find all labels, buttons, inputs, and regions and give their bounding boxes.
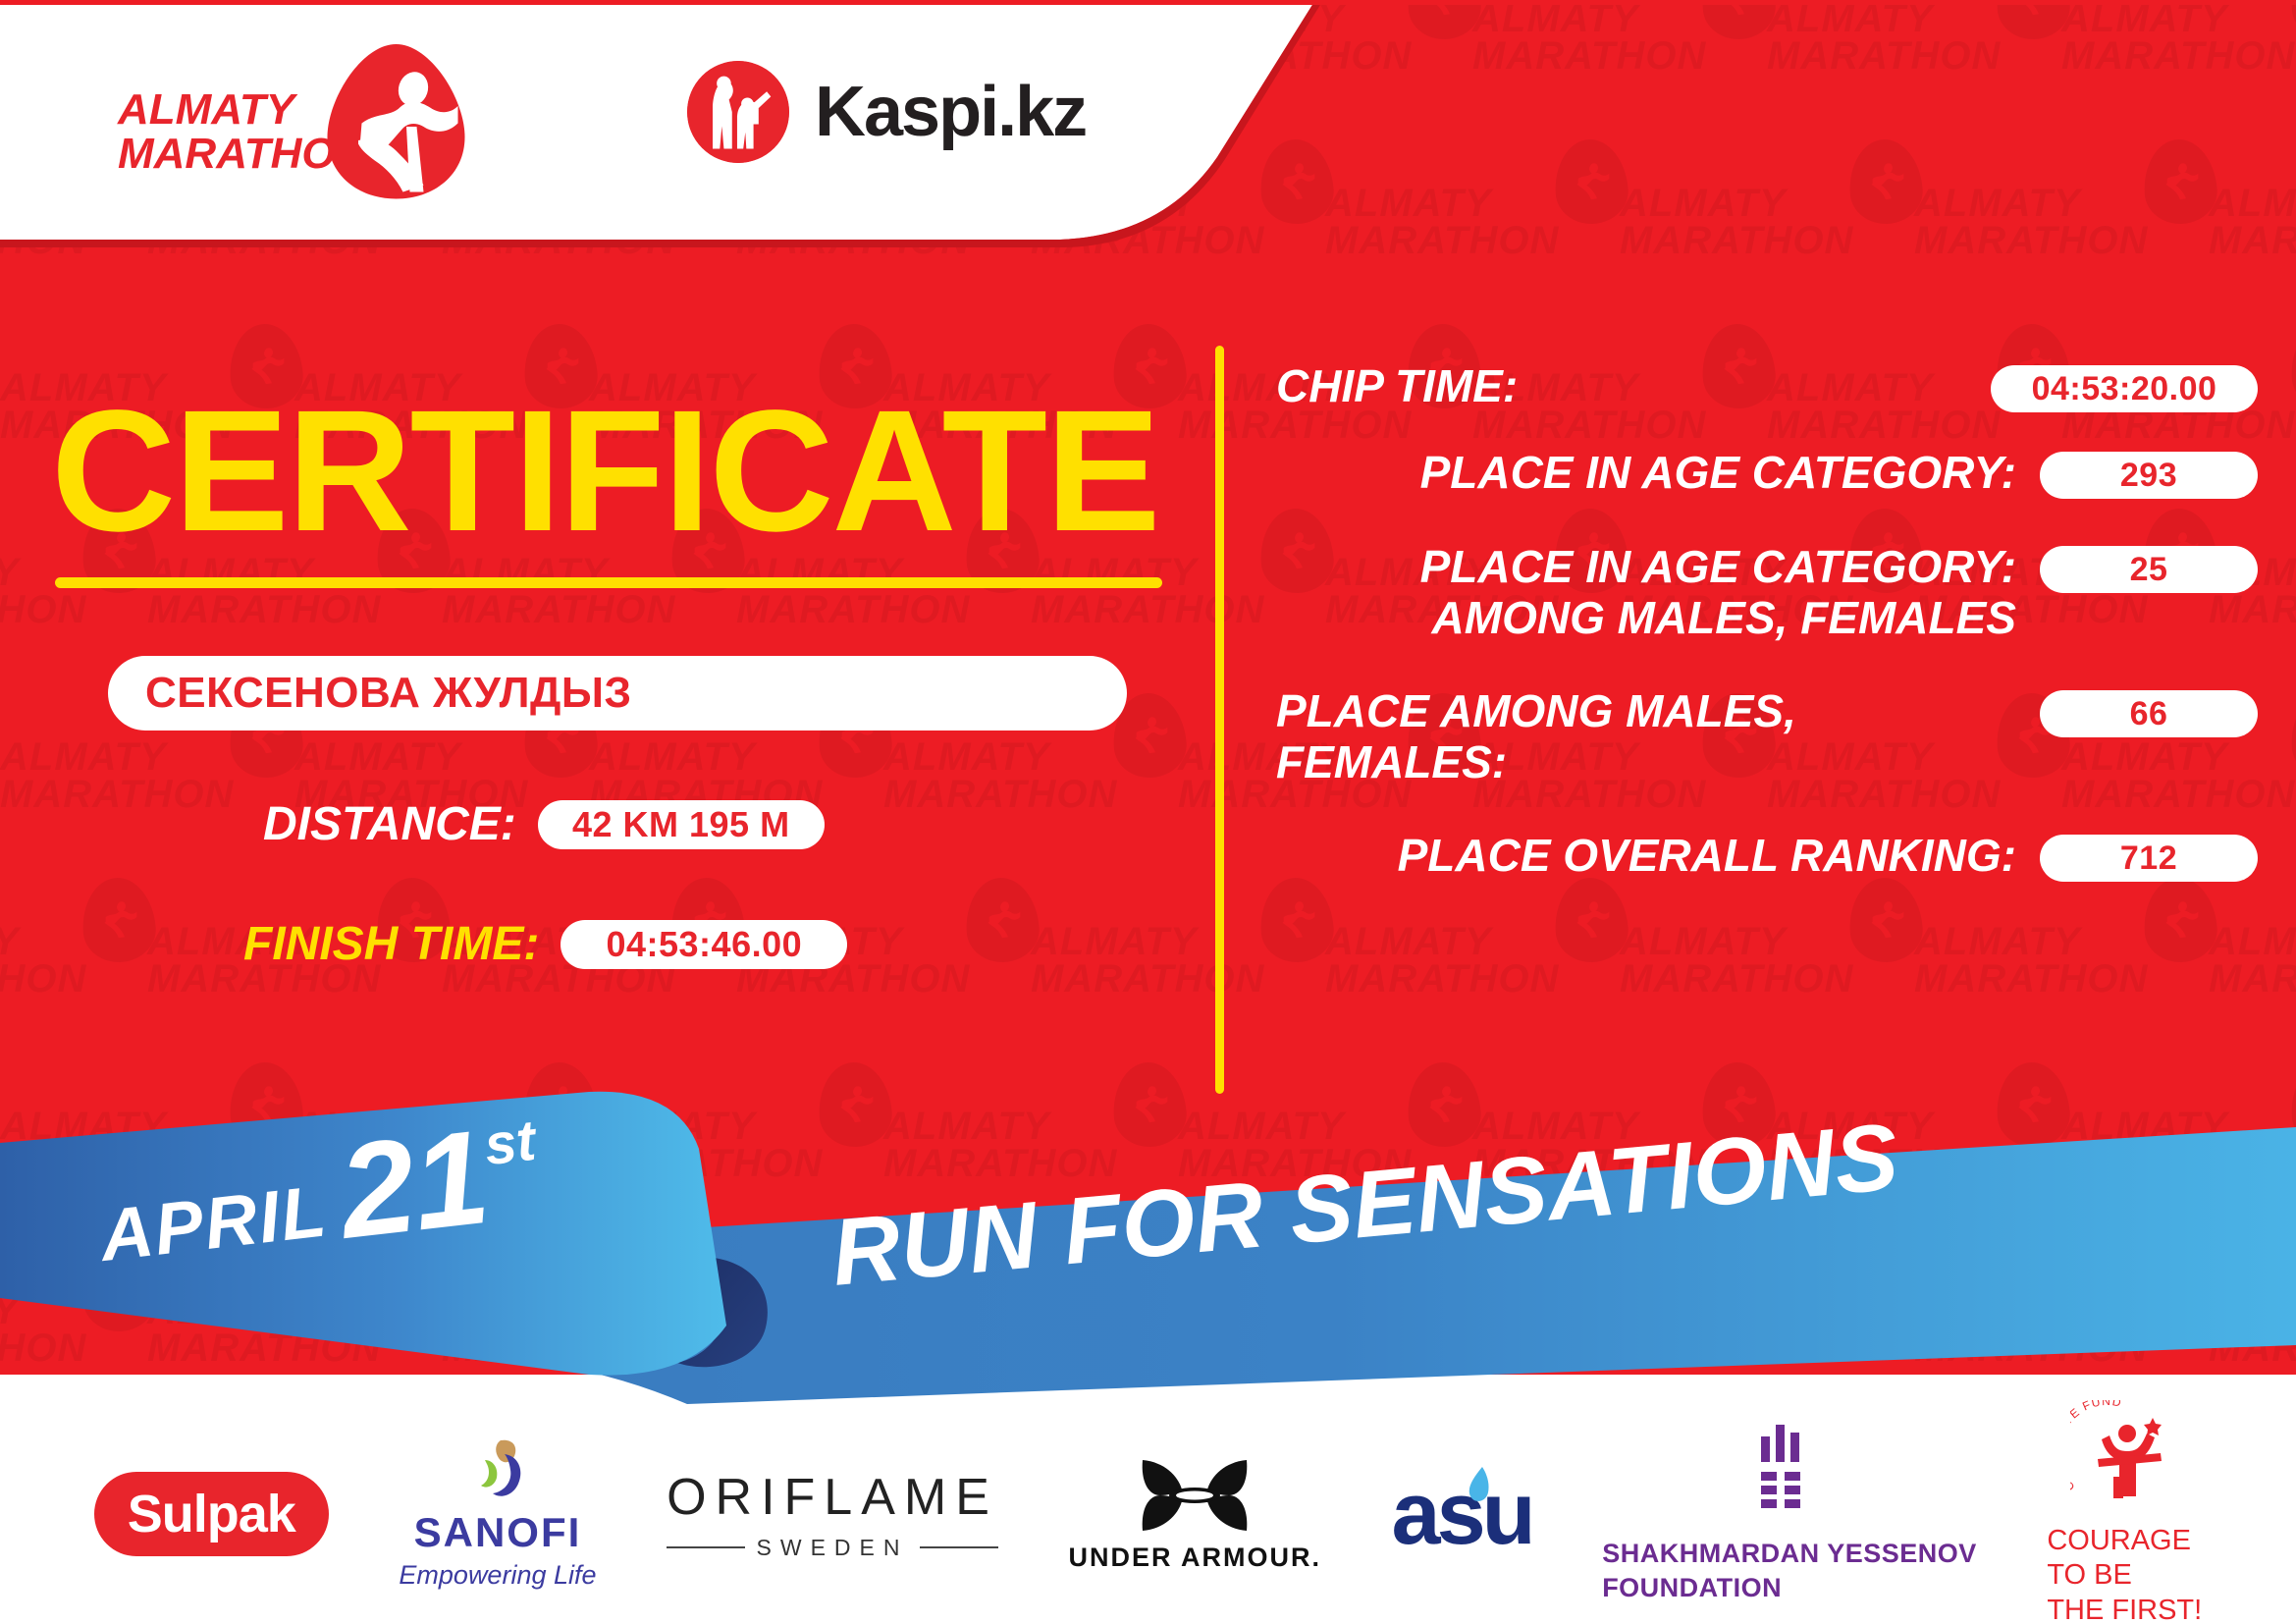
watermark-tile: ALMATYMARATHON: [883, 738, 1178, 813]
oriflame-rule-left: [667, 1546, 744, 1548]
marathon-drop-runner-icon: [310, 37, 482, 209]
oriflame-rule-right: [920, 1546, 997, 1548]
watermark-tile: ALMATYMARATHON: [0, 923, 147, 998]
watermark-tile: ALMATYMARATHON: [2209, 185, 2296, 259]
watermark-tile: ALMATYMARATHON: [0, 738, 294, 813]
sulpak-wordmark: Sulpak: [94, 1472, 329, 1556]
watermark-tile: ALMATYMARATHON: [1325, 185, 1620, 259]
place-among-gender-label-line1: PLACE AMONG MALES,: [1276, 686, 2016, 737]
yessenov-wordmark: SHAKHMARDAN YESSENOV FOUNDATION: [1602, 1537, 1977, 1605]
oriflame-country: SWEDEN: [757, 1535, 909, 1561]
sponsor-yessenov-foundation: SHAKHMARDAN YESSENOV FOUNDATION: [1602, 1423, 1977, 1605]
yessenov-mark-icon: [1759, 1423, 1820, 1513]
title-underline: [55, 577, 1162, 588]
finish-time-row: FINISH TIME: 04:53:46.00: [243, 917, 847, 971]
stat-row-place-age-category-gender: PLACE IN AGE CATEGORY: AMONG MALES, FEMA…: [1276, 542, 2258, 643]
event-month: APRIL: [96, 1169, 332, 1278]
participant-name: СЕКСЕНОВА ЖУЛДЫЗ: [145, 669, 632, 718]
place-overall-value: 712: [2040, 835, 2258, 882]
sponsor-bar: Sulpak SANOFI Empowering Life ORIFLAME S…: [0, 1404, 2296, 1624]
watermark-tile: ALMATYMARATHON: [883, 1108, 1178, 1182]
sponsor-courage-fund: CORPORATE FUND COURAGE TO BE THE FIRST!: [2047, 1400, 2202, 1624]
courage-fund-line3: THE FIRST!: [2047, 1594, 2202, 1624]
place-age-category-gender-label-line1: PLACE IN AGE CATEGORY:: [1276, 542, 2016, 593]
watermark-tile: ALMATYMARATHON: [1472, 0, 1767, 75]
watermark-tile: ALMATYMARATHON: [1914, 185, 2209, 259]
distance-row: DISTANCE: 42 KM 195 M: [263, 797, 825, 851]
watermark-tile: ALMATYMARATHON: [1620, 923, 1914, 998]
courage-fund-line1: COURAGE: [2047, 1524, 2202, 1558]
courage-fund-line2: TO BE: [2047, 1558, 2202, 1593]
under-armour-mark-icon: [1131, 1456, 1258, 1535]
place-age-category-gender-label: PLACE IN AGE CATEGORY: AMONG MALES, FEMA…: [1276, 542, 2040, 643]
sponsor-sulpak: Sulpak: [94, 1472, 329, 1556]
distance-label: DISTANCE:: [263, 797, 516, 851]
kaspi-wordmark: Kaspi.kz: [815, 72, 1086, 152]
sponsor-asu: asu: [1392, 1475, 1532, 1554]
finish-time-value: 04:53:46.00: [561, 920, 847, 969]
sponsor-under-armour: UNDER ARMOUR.: [1068, 1456, 1321, 1573]
vertical-divider: [1215, 346, 1224, 1094]
watermark-tile: ALMATYMARATHON: [147, 1292, 442, 1367]
watermark-tile: ALMATYMARATHON: [2061, 0, 2296, 75]
watermark-tile: ALMATYMARATHON: [1031, 1292, 1325, 1367]
kaspi-logo: Kaspi.kz: [687, 61, 1086, 163]
sanofi-mark-icon: [461, 1438, 534, 1503]
chip-time-label: CHIP TIME:: [1276, 361, 1991, 412]
asu-droplet-icon: [1463, 1465, 1496, 1508]
watermark-tile: ALMATYMARATHON: [442, 1292, 736, 1367]
yessenov-wordmark-line2: FOUNDATION: [1602, 1571, 1977, 1605]
place-among-gender-label: PLACE AMONG MALES, FEMALES:: [1276, 686, 2040, 787]
event-day: 21: [334, 1113, 494, 1256]
certificate-canvas: ALMATYMARATHONALMATYMARATHONALMATYMARATH…: [0, 0, 2296, 1624]
watermark-tile: ALMATYMARATHON: [1620, 1292, 1914, 1367]
place-among-gender-label-line2: FEMALES:: [1276, 737, 2016, 788]
almaty-marathon-logo: ALMATY MARATHON: [118, 41, 432, 198]
watermark-tile: ALMATYMARATHON: [1620, 185, 1914, 259]
watermark-tile: ALMATYMARATHON: [1914, 923, 2209, 998]
oriflame-sub: SWEDEN: [667, 1535, 998, 1561]
watermark-tile: ALMATYMARATHON: [2209, 1292, 2296, 1367]
kaspi-mark-icon: [687, 61, 789, 163]
place-age-category-gender-value: 25: [2040, 546, 2258, 593]
watermark-tile: ALMATYMARATHON: [2209, 923, 2296, 998]
stat-row-chip-time: CHIP TIME: 04:53:20.00: [1276, 361, 2258, 412]
header-logos: ALMATY MARATHON: [0, 0, 1227, 275]
stat-row-place-overall: PLACE OVERALL RANKING: 712: [1276, 831, 2258, 882]
finish-time-label: FINISH TIME:: [243, 917, 539, 971]
watermark-tile: ALMATYMARATHON: [1325, 923, 1620, 998]
under-armour-wordmark: UNDER ARMOUR.: [1068, 1543, 1321, 1573]
watermark-tile: ALMATYMARATHON: [2061, 1108, 2296, 1182]
event-day-ordinal: st: [481, 1108, 539, 1178]
place-overall-label: PLACE OVERALL RANKING:: [1276, 831, 2040, 882]
watermark-tile: ALMATYMARATHON: [1325, 1292, 1620, 1367]
sponsor-oriflame: ORIFLAME SWEDEN: [667, 1468, 998, 1561]
sanofi-wordmark: SANOFI: [414, 1509, 582, 1556]
sponsor-sanofi: SANOFI Empowering Life: [399, 1438, 596, 1591]
courage-fund-emblem-icon: CORPORATE FUND: [2070, 1400, 2178, 1510]
place-age-category-label: PLACE IN AGE CATEGORY:: [1276, 448, 2040, 499]
stat-row-place-age-category: PLACE IN AGE CATEGORY: 293: [1276, 448, 2258, 499]
courage-fund-wordmark: COURAGE TO BE THE FIRST!: [2047, 1524, 2202, 1624]
watermark-tile: ALMATYMARATHON: [0, 1292, 147, 1367]
watermark-tile: ALMATYMARATHON: [1767, 0, 2061, 75]
chip-time-value: 04:53:20.00: [1991, 365, 2258, 412]
watermark-tile: ALMATYMARATHON: [1914, 1292, 2209, 1367]
stats-panel: CHIP TIME: 04:53:20.00 PLACE IN AGE CATE…: [1276, 361, 2258, 917]
participant-name-field: СЕКСЕНОВА ЖУЛДЫЗ: [108, 656, 1127, 731]
oriflame-wordmark: ORIFLAME: [667, 1468, 998, 1527]
place-age-category-gender-label-line2: AMONG MALES, FEMALES: [1276, 593, 2016, 644]
watermark-tile: ALMATYMARATHON: [1031, 923, 1325, 998]
stat-row-place-among-gender: PLACE AMONG MALES, FEMALES: 66: [1276, 686, 2258, 787]
watermark-tile: ALMATYMARATHON: [589, 1108, 883, 1182]
place-among-gender-value: 66: [2040, 690, 2258, 737]
page-title: CERTIFICATE: [51, 385, 1158, 558]
sanofi-tagline: Empowering Life: [399, 1560, 596, 1591]
place-age-category-value: 293: [2040, 452, 2258, 499]
yessenov-wordmark-line1: SHAKHMARDAN YESSENOV: [1602, 1537, 1977, 1571]
distance-value: 42 KM 195 M: [538, 800, 825, 849]
